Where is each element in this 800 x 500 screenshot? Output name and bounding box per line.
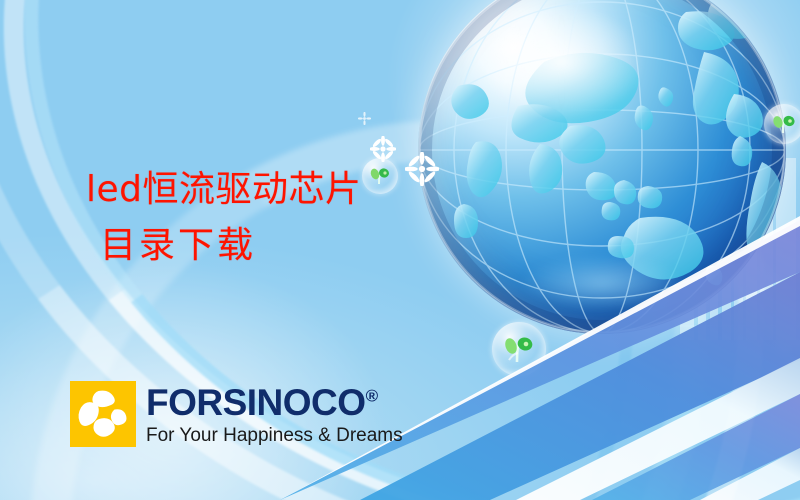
globe-bottom-highlight [484,242,720,323]
bubble-with-sprout-icon [764,104,800,144]
flower-sparkle-icon [405,152,439,186]
headline-line-2: 目录下载 [100,224,362,268]
promo-banner: led恒流驱动芯片 目录下载 FORSINOCO® For Your Happi… [0,0,800,500]
earth-globe-icon [418,0,786,334]
logo-tagline: For Your Happiness & Dreams [146,426,403,445]
sprout-icon [764,104,800,144]
sprout-icon [362,158,398,194]
sprout-icon [492,322,546,376]
flower-sparkle-icon [358,112,371,125]
bubble-with-sprout-icon [362,158,398,194]
headline-line-1: led恒流驱动芯片 [86,168,362,212]
logo-wordmark-text: FORSINOCO [146,382,366,423]
four-petal-flower-icon [70,381,136,447]
page-title: led恒流驱动芯片 目录下载 [86,168,362,268]
bubble-with-sprout-icon [492,322,546,376]
registered-trademark-icon: ® [366,386,379,405]
logo-text-block: FORSINOCO® For Your Happiness & Dreams [146,384,403,445]
logo-wordmark: FORSINOCO® [146,384,403,421]
company-logo[interactable]: FORSINOCO® For Your Happiness & Dreams [70,381,403,447]
